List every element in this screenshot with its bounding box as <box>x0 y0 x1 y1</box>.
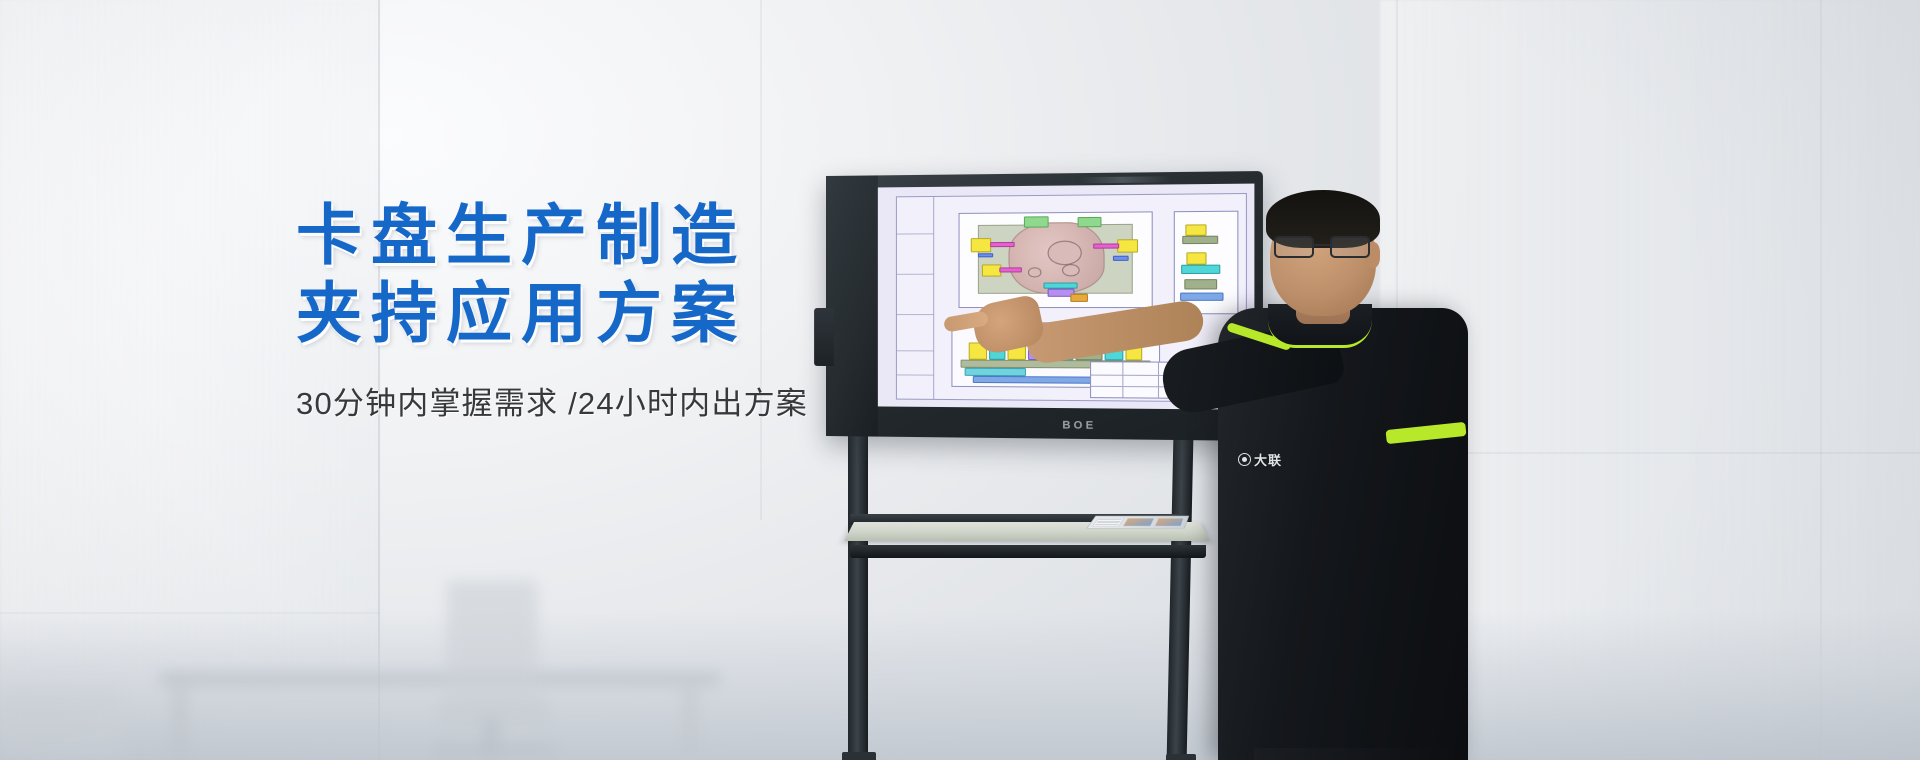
clamp-yellow-right <box>1117 239 1138 252</box>
clamp-blue-2 <box>1113 256 1129 261</box>
banner-root: 卡盘生产制造 夹持应用方案 30分钟内掌握需求 /24小时内出方案 BOE <box>0 0 1920 760</box>
stand-post-left <box>848 431 868 760</box>
bore-small-2 <box>1028 268 1041 277</box>
circle-dot-icon <box>1238 453 1251 466</box>
glasses-lens-right <box>1330 236 1370 258</box>
clamp-orange <box>1070 294 1087 302</box>
stand-foot-left <box>842 752 876 760</box>
clamp-green-1 <box>1024 217 1049 228</box>
brochure-column-text <box>1092 518 1125 526</box>
fixture-teal-block <box>965 368 1026 376</box>
presenter-glasses <box>1274 236 1374 258</box>
cad-view-top <box>958 211 1153 308</box>
cad-index-column <box>897 197 934 400</box>
clamp-yellow-left <box>971 238 992 252</box>
shirt-chest-logo: 大联 <box>1238 448 1300 470</box>
glasses-lens-left <box>1274 236 1314 258</box>
presenter-legs <box>1254 748 1454 760</box>
clamp-magenta-left <box>990 242 1015 247</box>
bore-small <box>1063 264 1080 276</box>
clamp-green-2 <box>1078 217 1101 227</box>
presenter: 大联 <box>1150 180 1570 760</box>
clamp-magenta-right <box>1093 244 1118 249</box>
display-side-bracket <box>814 308 834 366</box>
clamp-magenta-lower <box>999 268 1022 273</box>
clamp-blue-1 <box>978 253 993 258</box>
clamp-cyan-bottom <box>1043 283 1078 289</box>
clamp-yellow-lower <box>982 264 1001 276</box>
shirt-logo-text: 大联 <box>1254 450 1282 469</box>
glasses-bridge <box>1314 244 1330 246</box>
display-left-bezel <box>826 175 878 436</box>
display-brand-logo: BOE <box>1062 419 1096 432</box>
